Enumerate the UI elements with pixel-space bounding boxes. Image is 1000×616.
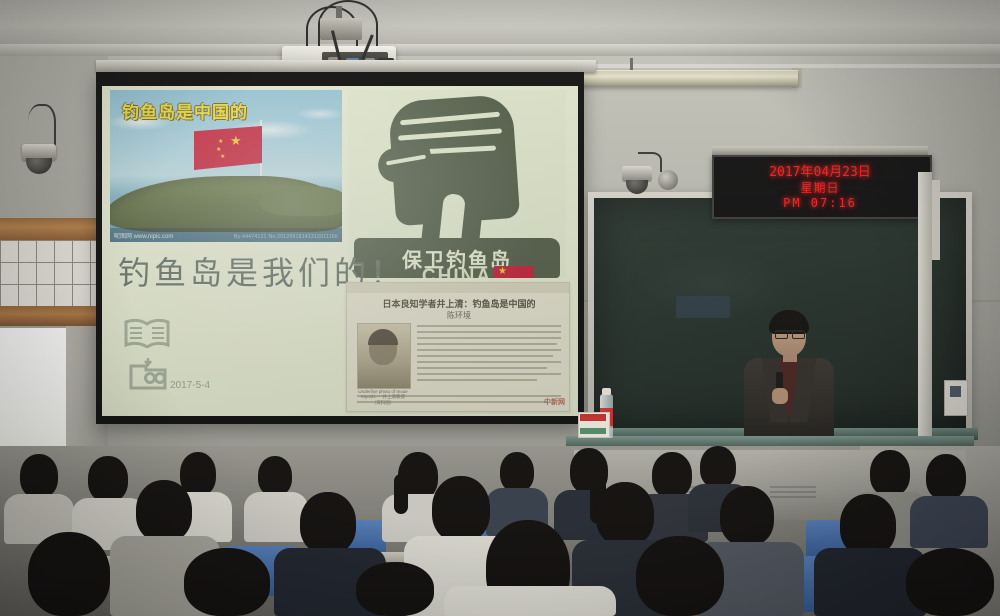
student-head — [28, 532, 110, 616]
flag-star-small-3: ★ — [220, 153, 225, 160]
student-ponytail — [394, 474, 408, 514]
student-torso — [444, 586, 616, 616]
newspaper-top-strip — [347, 283, 569, 293]
student-torso — [910, 496, 988, 548]
student-head — [700, 446, 736, 488]
projector-ceiling-mount — [320, 18, 362, 40]
ceiling-speaker — [658, 170, 678, 190]
student-head — [840, 494, 896, 556]
student-head — [184, 548, 270, 616]
door-frame-inner — [932, 180, 940, 260]
screen-roller-housing — [96, 60, 596, 72]
student-head — [906, 548, 994, 616]
teacher-hand — [772, 388, 788, 404]
student-head — [136, 480, 192, 542]
window-wood-trim-top — [0, 218, 104, 240]
led-scrolling-display: 2017年04月23日 星期日 PM 07:16 — [712, 155, 932, 219]
student-head — [356, 562, 434, 616]
door-frame — [918, 172, 932, 456]
student-head — [300, 492, 356, 554]
student-head — [870, 450, 910, 496]
tissue-box-red-band — [580, 414, 606, 421]
newspaper-headline: 日本良知学者井上清：钓鱼岛是中国的 — [357, 297, 561, 310]
newspaper-source-mark: 中新网 — [544, 397, 565, 407]
projector-icon — [128, 356, 168, 390]
island-landmass-ridge — [260, 186, 342, 216]
student-head — [720, 486, 774, 546]
photo-watermark-right: By:44474121 No:20120918141312011156 — [234, 234, 338, 240]
chinese-flag — [194, 126, 262, 170]
flag-star-small-2: ★ — [216, 146, 221, 153]
student-head — [926, 454, 966, 500]
window-wood-trim-bottom — [0, 306, 104, 326]
student-head — [432, 476, 490, 542]
newspaper-byline: 陈环境 — [357, 310, 561, 321]
island-photo-title: 钓鱼岛是中国的 — [122, 98, 272, 123]
student-head — [258, 456, 292, 496]
slide-date-label: 2017-5-4 — [170, 380, 210, 391]
flag-star-small-1: ★ — [218, 138, 223, 145]
led-date-line: 2017年04月23日 — [714, 161, 926, 180]
newspaper-photo-caption: Underline photo of Inoue Kiyoshi — 井上清教授… — [357, 389, 409, 406]
slide-canvas: ★ ★ ★ ★ 钓鱼岛是中国的 昵图网 www.nipic.com By:444… — [102, 86, 578, 416]
student-head — [500, 452, 534, 492]
student-head — [88, 456, 128, 502]
slide-island-photo: ★ ★ ★ ★ 钓鱼岛是中国的 昵图网 www.nipic.com By:444… — [110, 90, 342, 242]
student-head — [20, 454, 58, 498]
projection-screen: ★ ★ ★ ★ 钓鱼岛是中国的 昵图网 www.nipic.com By:444… — [102, 86, 578, 416]
student-head — [636, 536, 724, 616]
student-head — [652, 452, 692, 498]
fist-flag-star: ★ — [498, 266, 507, 277]
camera-cable-left — [28, 104, 56, 148]
water-bottle-cap — [602, 388, 611, 395]
led-weekday-line: 星期日 — [714, 179, 926, 196]
photo-watermark-left: 昵图网 www.nipic.com — [114, 231, 173, 240]
wall-switch-button[interactable] — [950, 386, 961, 397]
student-head — [596, 482, 654, 546]
window-grid-panel — [0, 240, 104, 306]
classroom-photo: ★ ★ ★ ★ 钓鱼岛是中国的 昵图网 www.nipic.com By:444… — [0, 0, 1000, 616]
teacher-glasses-bridge — [775, 330, 803, 339]
open-book-icon — [124, 318, 170, 348]
student-torso — [244, 492, 308, 542]
tissue-box-green-band — [580, 428, 606, 434]
flag-star-large: ★ — [230, 134, 242, 147]
led-time-line: PM 07:16 — [714, 196, 926, 210]
slide-newspaper-clipping: 日本良知学者井上清：钓鱼岛是中国的 陈环境 Underline photo of… — [346, 282, 570, 412]
blackboard-wall-panel — [676, 296, 730, 318]
